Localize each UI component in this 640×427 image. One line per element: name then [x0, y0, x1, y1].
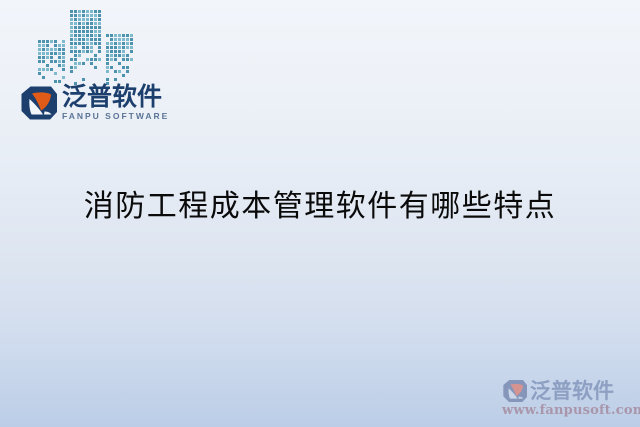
slide-canvas: 泛普软件 FANPU SOFTWARE 消防工程成本管理软件有哪些特点 泛普软件…	[0, 0, 640, 427]
watermark-url: www.fanpusoft.com	[502, 403, 634, 419]
brand-logo: 泛普软件 FANPU SOFTWARE	[20, 84, 169, 121]
brand-name-en: FANPU SOFTWARE	[62, 111, 169, 121]
fanpu-hexagon-logo-watermark-icon	[502, 379, 528, 403]
watermark-logo-row: 泛普软件	[502, 379, 634, 403]
fanpu-hexagon-logo-icon	[20, 85, 58, 121]
brand-name-cn: 泛普软件	[62, 84, 162, 110]
watermark: 泛普软件 www.fanpusoft.com	[502, 379, 634, 419]
brand-text: 泛普软件 FANPU SOFTWARE	[62, 84, 169, 121]
watermark-name-cn: 泛普软件	[530, 380, 614, 403]
page-title: 消防工程成本管理软件有哪些特点	[0, 186, 640, 228]
pixel-building-skyline-icon	[32, 4, 144, 88]
